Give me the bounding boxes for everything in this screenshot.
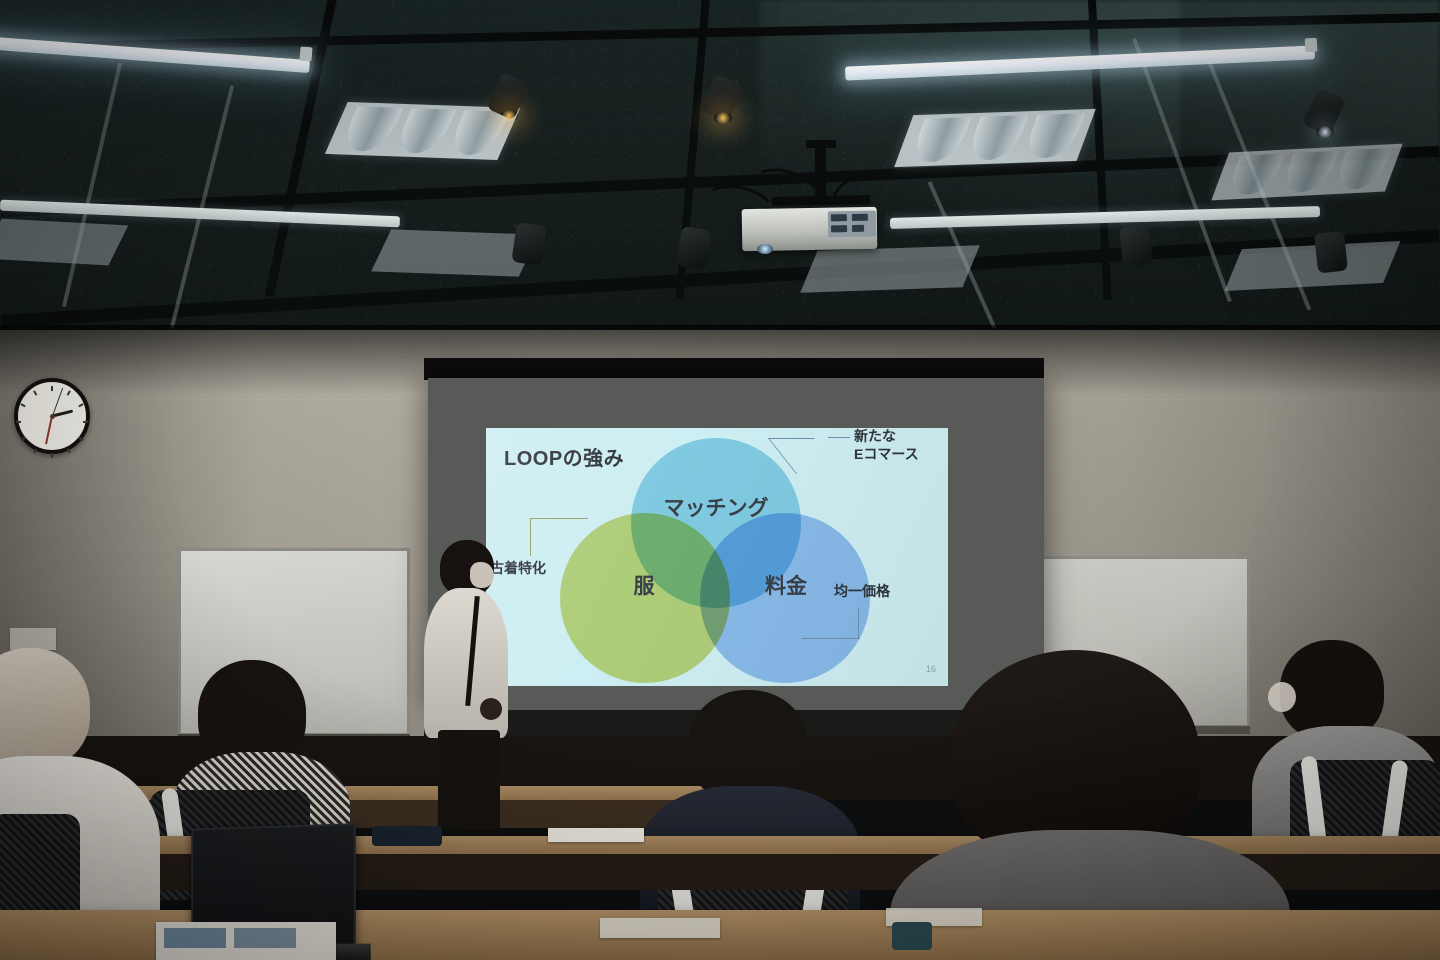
paper-handout xyxy=(156,922,336,960)
foreground-head xyxy=(0,648,90,768)
presenter xyxy=(418,540,514,830)
track-spotlight xyxy=(718,82,728,112)
tube-end-cap xyxy=(1305,38,1318,53)
recessed-light-fixture xyxy=(894,109,1096,167)
leader-line-used-clothing-h xyxy=(530,518,588,519)
leader-line-new-ecommerce-h xyxy=(828,437,850,438)
annotation-new-ecommerce: 新たな Eコマース xyxy=(854,428,919,463)
wall-clock xyxy=(14,378,90,454)
track-spotlight xyxy=(504,78,514,110)
recessed-light-fixture-off xyxy=(0,219,128,266)
presentation-slide: LOOPの強み マッチング 服 料金 新たな Eコマース 古着特化 均一価格 1… xyxy=(486,428,948,686)
leader-line-used-clothing-v xyxy=(530,518,531,556)
audience-head xyxy=(1280,640,1384,740)
venn-label-clothes: 服 xyxy=(604,570,684,600)
projector-lens xyxy=(757,244,773,254)
track-spotlight-off xyxy=(1327,236,1336,266)
presenter-face-mask xyxy=(470,562,494,588)
tube-end-cap xyxy=(300,47,313,62)
paper-handout xyxy=(548,828,644,842)
desk-item-glasses xyxy=(372,826,442,846)
recessed-light-fixture-off xyxy=(800,245,980,293)
clock-minute-hand xyxy=(45,416,53,445)
recessed-light-fixture xyxy=(1211,144,1402,201)
paper-handout xyxy=(600,918,720,938)
screen-roller-housing xyxy=(424,358,1044,380)
track-spotlight-off xyxy=(525,228,534,258)
slide-title: LOOPの強み xyxy=(504,442,624,471)
ceiling xyxy=(0,0,1440,350)
lecture-room-photo: LOOPの強み マッチング 服 料金 新たな Eコマース 古着特化 均一価格 1… xyxy=(0,0,1440,960)
presenter-hands xyxy=(480,698,502,720)
leader-line-flat-rate-v xyxy=(858,608,859,638)
track-spotlight xyxy=(1320,96,1330,126)
presenter-legs xyxy=(438,730,500,830)
annotation-flat-rate-price: 均一価格 xyxy=(834,583,890,601)
track-spotlight-off xyxy=(690,232,699,262)
venn-label-price: 料金 xyxy=(736,570,836,600)
venn-label-matching: マッチング xyxy=(651,492,781,522)
leader-line-flat-rate-h xyxy=(802,638,860,639)
track-spotlight-off xyxy=(1132,230,1141,260)
wall-notice xyxy=(10,628,56,650)
desk-item-bottle xyxy=(892,922,932,950)
audience-face-mask xyxy=(1268,682,1296,712)
